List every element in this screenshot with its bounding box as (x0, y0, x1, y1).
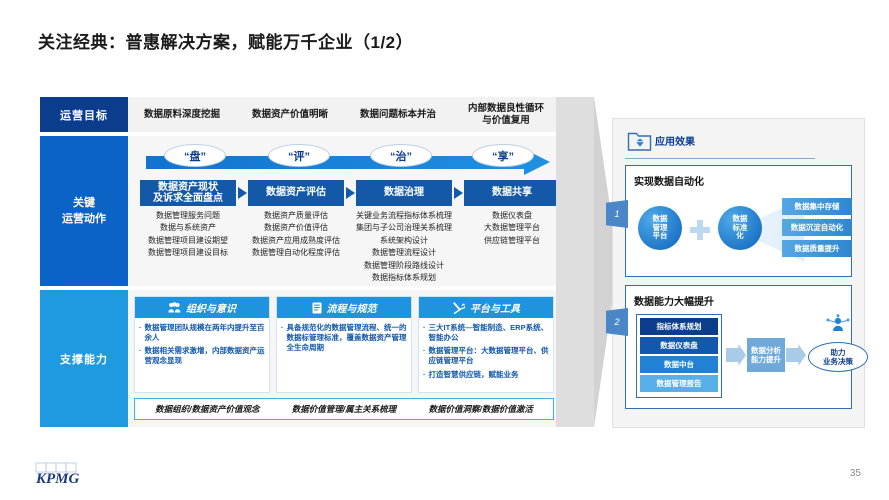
capability-flow: 指标体系规划 数据仪表盘 数据中台 数据管理报告 数据分析 能力提升 (634, 312, 843, 400)
document-icon (312, 302, 322, 314)
output-box: 数据集中存储 (782, 198, 852, 215)
bullet-item: ·打造智慧供应链，赋能业务 (423, 370, 549, 380)
right-panel-title: 应用效果 (655, 133, 695, 148)
stage-details-2: 数据资产质量评估 数据资产价值评估 数据资产应用成熟度评估 数据管理自动化程度评… (248, 210, 344, 260)
effect-section-automation: 1 实现数据自动化 数据 管理 平台 数据 标准 化 数据集中存储 数据沉淀自动… (625, 165, 852, 277)
card-body: ·具备规范化的数据管理流程、统一的数据标管理标准，覆盖数据资产管理全生命周期 (277, 318, 411, 360)
plus-icon (690, 220, 710, 240)
card-title: 流程与规范 (327, 300, 377, 315)
stage-arrow-icon (454, 187, 463, 199)
stage-box-4[interactable]: 数据共享 (464, 180, 560, 206)
phase-label-pan: “盘” (164, 144, 226, 167)
bullet-dot-icon: · (281, 323, 284, 353)
detail-item: 数据管理项目建设期望 (140, 235, 236, 247)
flow-arrow-icon (726, 344, 746, 366)
circle-data-platform: 数据 管理 平台 (638, 206, 682, 250)
phase-label-zhi: “治” (370, 144, 432, 167)
detail-item: 集团与子公司治理关系梳理 (348, 222, 460, 234)
support-cards: 组织与意识 ·数据管理团队规模在两年内提升至百余人 ·数据相关需求激增，内部数据… (134, 296, 554, 393)
operating-goal-items: 数据原料深度挖掘 数据资产价值明晰 数据问题标本并治 内部数据良性循环 与价值复… (128, 97, 560, 132)
stage-details-1: 数据管理服务问题 数据与系统资产 数据管理项目建设期望 数据管理项目建设目标 (140, 210, 236, 260)
value-tag-bar: 数据组织/数据资产价值观念 数据价值管理/属主关系梳理 数据价值洞察/数据价值激… (134, 398, 554, 420)
detail-item: 数据指标体系规划 (348, 272, 460, 284)
phase-label-ping: “评” (268, 144, 330, 167)
detail-item: 数据管理流程设计 (348, 247, 460, 259)
section-title: 数据能力大幅提升 (634, 293, 843, 308)
detail-item: 数据管理服务问题 (140, 210, 236, 222)
effect-section-capability: 2 数据能力大幅提升 指标体系规划 数据仪表盘 数据中台 数据管理报告 数据分析… (625, 285, 852, 409)
bullet-dot-icon: · (139, 346, 142, 366)
support-card-process[interactable]: 流程与规范 ·具备规范化的数据管理流程、统一的数据标管理标准，覆盖数据资产管理全… (276, 296, 412, 393)
capability-item: 数据中台 (640, 356, 718, 373)
page-number: 35 (850, 468, 861, 479)
capability-item: 数据管理报告 (640, 375, 718, 392)
stage-details-4: 数据仪表盘 大数据管理平台 供应链管理平台 (464, 210, 560, 247)
people-icon (168, 302, 181, 313)
value-tag: 数据价值洞察/数据价值激活 (428, 403, 532, 415)
stage-box-1[interactable]: 数据资产现状 及诉求全面盘点 (140, 180, 236, 206)
business-decision-ellipse: 助力 业务决策 (808, 342, 868, 372)
detail-item: 数据资产应用成熟度评估 (248, 235, 344, 247)
stage-arrow-icon (346, 187, 355, 199)
bullet-dot-icon: · (139, 323, 142, 343)
bullet-text: 具备规范化的数据管理流程、统一的数据标管理标准，覆盖数据资产管理全生命周期 (287, 323, 408, 353)
goal-item: 数据原料深度挖掘 (128, 109, 236, 121)
support-body: 组织与意识 ·数据管理团队规模在两年内提升至百余人 ·数据相关需求激增，内部数据… (128, 290, 560, 427)
card-header: 平台与工具 (419, 297, 553, 318)
detail-item: 供应链管理平台 (464, 235, 560, 247)
card-title: 平台与工具 (470, 300, 520, 315)
detail-item: 数据与系统资产 (140, 222, 236, 234)
capability-item: 数据仪表盘 (640, 337, 718, 354)
circle-data-standard: 数据 标准 化 (718, 206, 762, 250)
stage-box-row: 数据资产现状 及诉求全面盘点 数据资产评估 数据治理 数据共享 (138, 180, 550, 206)
bullet-item: ·数据管理平台：大数据管理平台、供应链管理平台 (423, 346, 549, 366)
support-card-organization[interactable]: 组织与意识 ·数据管理团队规模在两年内提升至百余人 ·数据相关需求激增，内部数据… (134, 296, 270, 393)
bullet-text: 三大IT系统—智能制造、ERP系统、智能办公 (429, 323, 550, 343)
value-tag: 数据价值管理/属主关系梳理 (292, 403, 396, 415)
section-title: 实现数据自动化 (634, 173, 843, 188)
kpmg-logo: KPMG (32, 462, 88, 493)
bullet-item: ·三大IT系统—智能制造、ERP系统、智能办公 (423, 323, 549, 343)
folder-diamond-icon (627, 129, 653, 158)
detail-item: 数据资产质量评估 (248, 210, 344, 222)
stage-box-2[interactable]: 数据资产评估 (248, 180, 344, 206)
left-panel: 运营目标 数据原料深度挖掘 数据资产价值明晰 数据问题标本并治 内部数据良性循环… (40, 97, 560, 427)
support-card-platform[interactable]: 平台与工具 ·三大IT系统—智能制造、ERP系统、智能办公 ·数据管理平台：大数… (418, 296, 554, 393)
card-title: 组织与意识 (186, 300, 236, 315)
person-network-icon (824, 314, 852, 342)
key-actions-row: 关键 运营动作 “盘” “评” “治” “享” 数据资产现状 及诉求全面盘点 数… (40, 136, 560, 286)
detail-item: 数据仪表盘 (464, 210, 560, 222)
section-number-2: 2 (606, 308, 628, 336)
right-panel: 应用效果 1 实现数据自动化 数据 管理 平台 数据 标准 化 数据集中存储 数… (612, 118, 865, 428)
sidebar-item-operating-goal[interactable]: 运营目标 (40, 97, 128, 132)
slide-canvas: 关注经典：普惠解决方案，赋能万千企业（1/2） 运营目标 数据原料深度挖掘 数据… (0, 0, 889, 500)
detail-item: 数据管理项目建设目标 (140, 247, 236, 259)
bullet-text: 数据管理平台：大数据管理平台、供应链管理平台 (429, 346, 550, 366)
card-header: 流程与规范 (277, 297, 411, 318)
page-title: 关注经典：普惠解决方案，赋能万千企业（1/2） (38, 28, 413, 53)
svg-text:KPMG: KPMG (35, 471, 80, 487)
goal-item: 数据问题标本并治 (344, 109, 452, 121)
bullet-dot-icon: · (423, 323, 426, 343)
bullet-item: ·具备规范化的数据管理流程、统一的数据标管理标准，覆盖数据资产管理全生命周期 (281, 323, 407, 353)
value-tag: 数据组织/数据资产价值观念 (155, 403, 259, 415)
bullet-item: ·数据管理团队规模在两年内提升至百余人 (139, 323, 265, 343)
bullet-dot-icon: · (423, 370, 426, 380)
section-number-1: 1 (606, 200, 628, 228)
detail-item: 数据资产价值评估 (248, 222, 344, 234)
detail-item: 大数据管理平台 (464, 222, 560, 234)
output-box: 数据沉淀自动化 (782, 219, 852, 236)
detail-item: 关键业务流程指标体系梳理 (348, 210, 460, 222)
stage-arrow-icon (238, 187, 247, 199)
phase-arrow-band: “盘” “评” “治” “享” (138, 144, 550, 176)
right-panel-header: 应用效果 (625, 127, 852, 161)
goal-item: 内部数据良性循环 与价值复用 (452, 103, 560, 127)
bullet-text: 数据管理团队规模在两年内提升至百余人 (145, 323, 266, 343)
stage-box-3[interactable]: 数据治理 (356, 180, 452, 206)
bullet-item: ·数据相关需求激增，内部数据资产运营观念显现 (139, 346, 265, 366)
chevron-divider-icon (556, 97, 618, 427)
support-capability-row: 支撑能力 组织与意识 ·数据管理团队规模在两年内提升至百余人 ·数据相关需求激增… (40, 290, 560, 427)
sidebar-item-support-capability[interactable]: 支撑能力 (40, 290, 128, 427)
sidebar-item-key-actions[interactable]: 关键 运营动作 (40, 136, 128, 286)
goal-item: 数据资产价值明晰 (236, 109, 344, 121)
detail-item: 系统架构设计 (348, 235, 460, 247)
stage-detail-row: 数据管理服务问题 数据与系统资产 数据管理项目建设期望 数据管理项目建设目标 数… (138, 210, 550, 290)
capability-list: 指标体系规划 数据仪表盘 数据中台 数据管理报告 (636, 314, 722, 398)
card-body: ·三大IT系统—智能制造、ERP系统、智能办公 ·数据管理平台：大数据管理平台、… (419, 318, 553, 387)
bullet-text: 数据相关需求激增，内部数据资产运营观念显现 (145, 346, 266, 366)
divider (625, 158, 815, 159)
output-box: 数据质量提升 (782, 240, 852, 257)
operating-goal-row: 运营目标 数据原料深度挖掘 数据资产价值明晰 数据问题标本并治 内部数据良性循环… (40, 97, 560, 132)
bullet-dot-icon: · (423, 346, 426, 366)
bullet-text: 打造智慧供应链，赋能业务 (429, 370, 519, 380)
automation-flow: 数据 管理 平台 数据 标准 化 数据集中存储 数据沉淀自动化 数据质量提升 (634, 192, 843, 268)
phase-label-xiang: “享” (472, 144, 534, 167)
key-actions-body: “盘” “评” “治” “享” 数据资产现状 及诉求全面盘点 数据资产评估 数据… (128, 136, 560, 286)
stage-details-3: 关键业务流程指标体系梳理 集团与子公司治理关系梳理 系统架构设计 数据管理流程设… (348, 210, 460, 284)
detail-item: 数据管理自动化程度评估 (248, 247, 344, 259)
card-header: 组织与意识 (135, 297, 269, 318)
capability-item: 指标体系规划 (640, 318, 718, 335)
card-body: ·数据管理团队规模在两年内提升至百余人 ·数据相关需求激增，内部数据资产运营观念… (135, 318, 269, 374)
detail-item: 数据管理阶段路线设计 (348, 260, 460, 272)
analysis-capability-box: 数据分析 能力提升 (747, 338, 785, 372)
flow-arrow-icon (786, 344, 806, 366)
tools-icon (452, 302, 465, 314)
